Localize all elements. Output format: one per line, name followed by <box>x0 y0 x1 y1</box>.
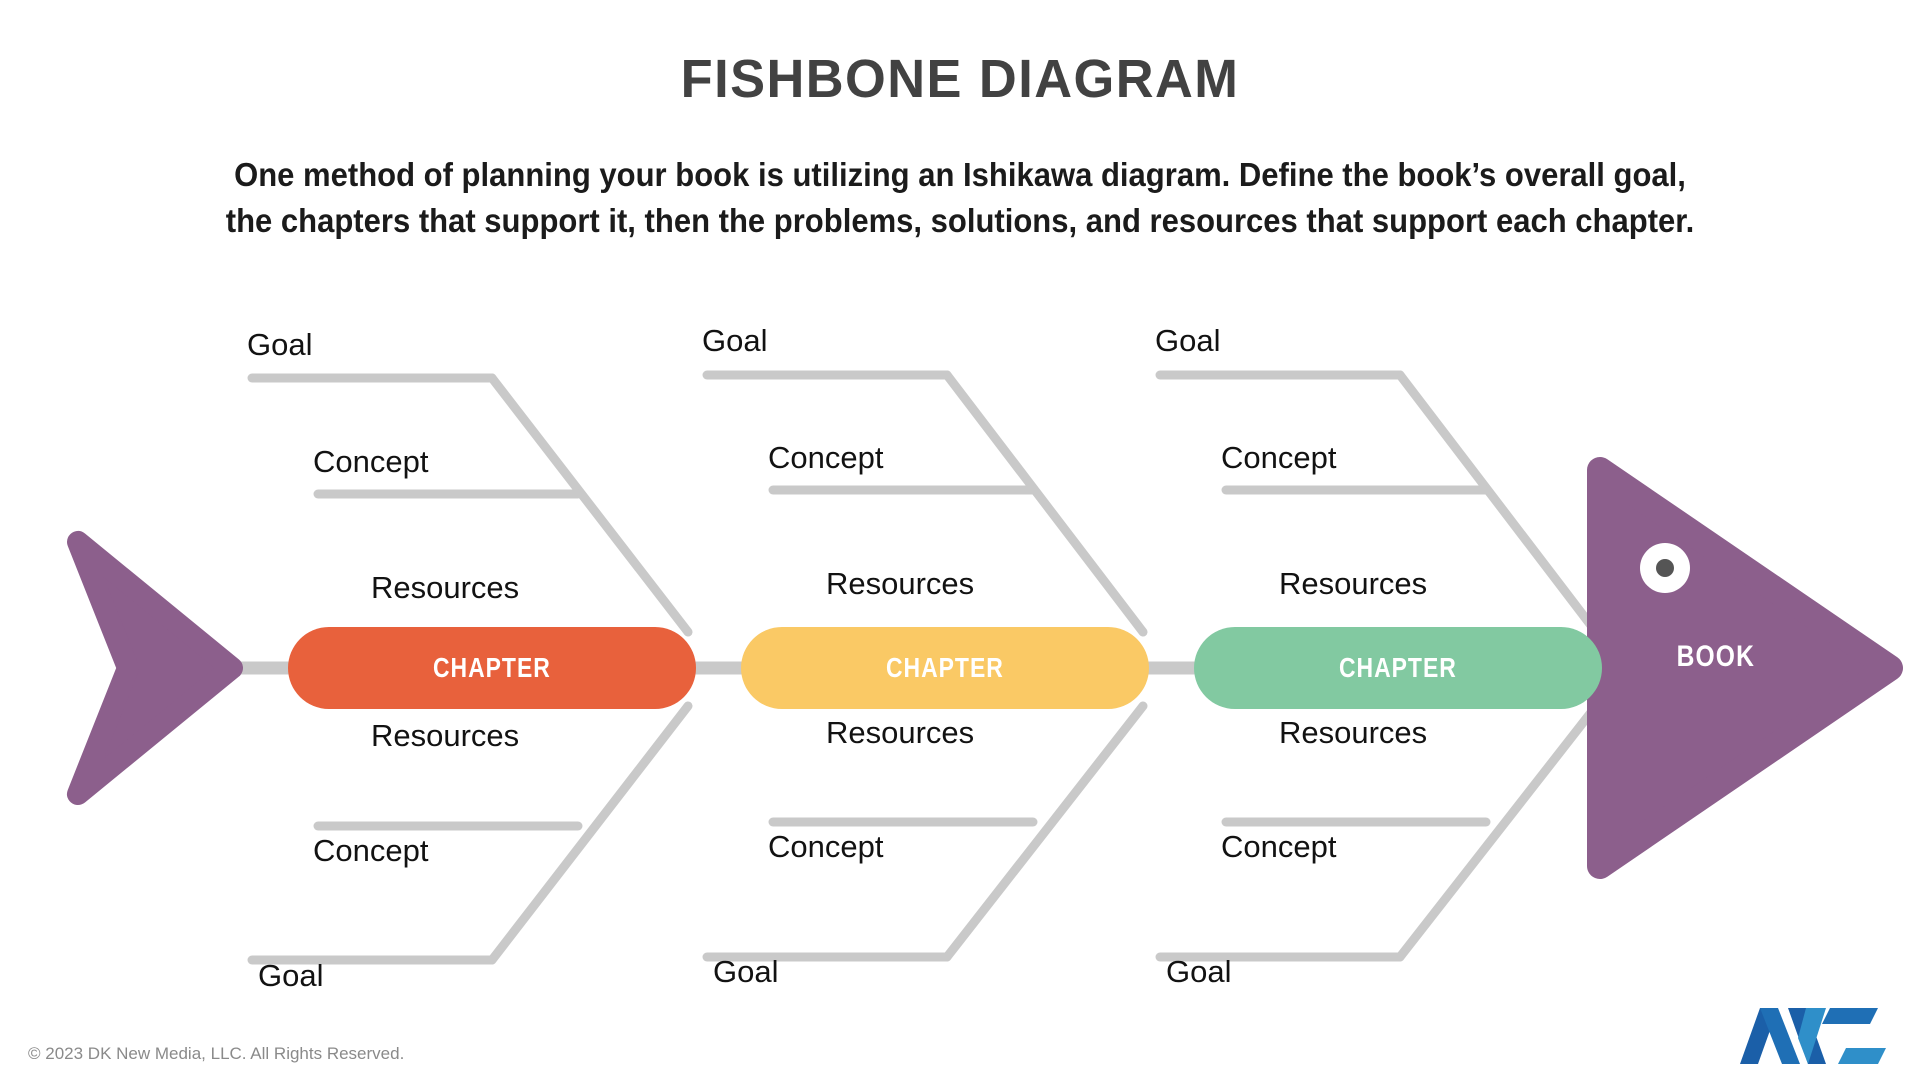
book-node-label: BOOK <box>1668 640 1764 674</box>
logo-shape-c-bottom <box>1838 1048 1886 1064</box>
fishbone-skeleton <box>0 0 1920 1080</box>
chapter-node-3[interactable]: CHAPTER <box>1194 627 1602 709</box>
bone-2-label-concept-top: Concept <box>768 440 883 476</box>
bone-3-lower-diagonal <box>1400 706 1596 957</box>
bone-1-label-resources-bottom: Resources <box>371 718 519 754</box>
bone-3-upper-diagonal <box>1400 375 1596 632</box>
chapter-node-1-label: CHAPTER <box>433 652 551 684</box>
bone-1-label-concept-bottom: Concept <box>313 833 428 869</box>
fish-tail <box>78 542 232 794</box>
bone-1-label-goal-bottom: Goal <box>258 958 323 994</box>
logo-shape-c-top <box>1822 1008 1878 1024</box>
chapter-node-1[interactable]: CHAPTER <box>288 627 696 709</box>
bone-1-lower-diagonal <box>492 706 688 960</box>
fishbone-diagram-page: FISHBONE DIAGRAM One method of planning … <box>0 0 1920 1080</box>
chapter-node-2-label: CHAPTER <box>886 652 1004 684</box>
fish-eye-pupil <box>1656 559 1674 577</box>
bone-2-label-resources-top: Resources <box>826 566 974 602</box>
martech-zone-logo <box>1738 1004 1888 1075</box>
bone-1-label-concept-top: Concept <box>313 444 428 480</box>
bone-2-label-goal-bottom: Goal <box>713 954 778 990</box>
bone-2-label-goal-top: Goal <box>702 323 767 359</box>
bone-3-label-resources-top: Resources <box>1279 566 1427 602</box>
bone-3-label-concept-top: Concept <box>1221 440 1336 476</box>
bone-2-label-resources-bottom: Resources <box>826 715 974 751</box>
bone-3-label-goal-bottom: Goal <box>1166 954 1231 990</box>
bone-1-label-goal-top: Goal <box>247 327 312 363</box>
bone-2-label-concept-bottom: Concept <box>768 829 883 865</box>
bone-1-upper-diagonal <box>492 378 688 632</box>
bone-2-lower-diagonal <box>947 706 1143 957</box>
chapter-node-3-label: CHAPTER <box>1339 652 1457 684</box>
bone-3-label-concept-bottom: Concept <box>1221 829 1336 865</box>
bone-1-label-resources-top: Resources <box>371 570 519 606</box>
bone-2-upper-diagonal <box>947 375 1143 632</box>
copyright-text: © 2023 DK New Media, LLC. All Rights Res… <box>28 1044 404 1064</box>
bone-3-label-resources-bottom: Resources <box>1279 715 1427 751</box>
fishbone-diagram: CHAPTER CHAPTER CHAPTER BOOK Goal Concep… <box>0 0 1920 1080</box>
bone-3-label-goal-top: Goal <box>1155 323 1220 359</box>
chapter-node-2[interactable]: CHAPTER <box>741 627 1149 709</box>
